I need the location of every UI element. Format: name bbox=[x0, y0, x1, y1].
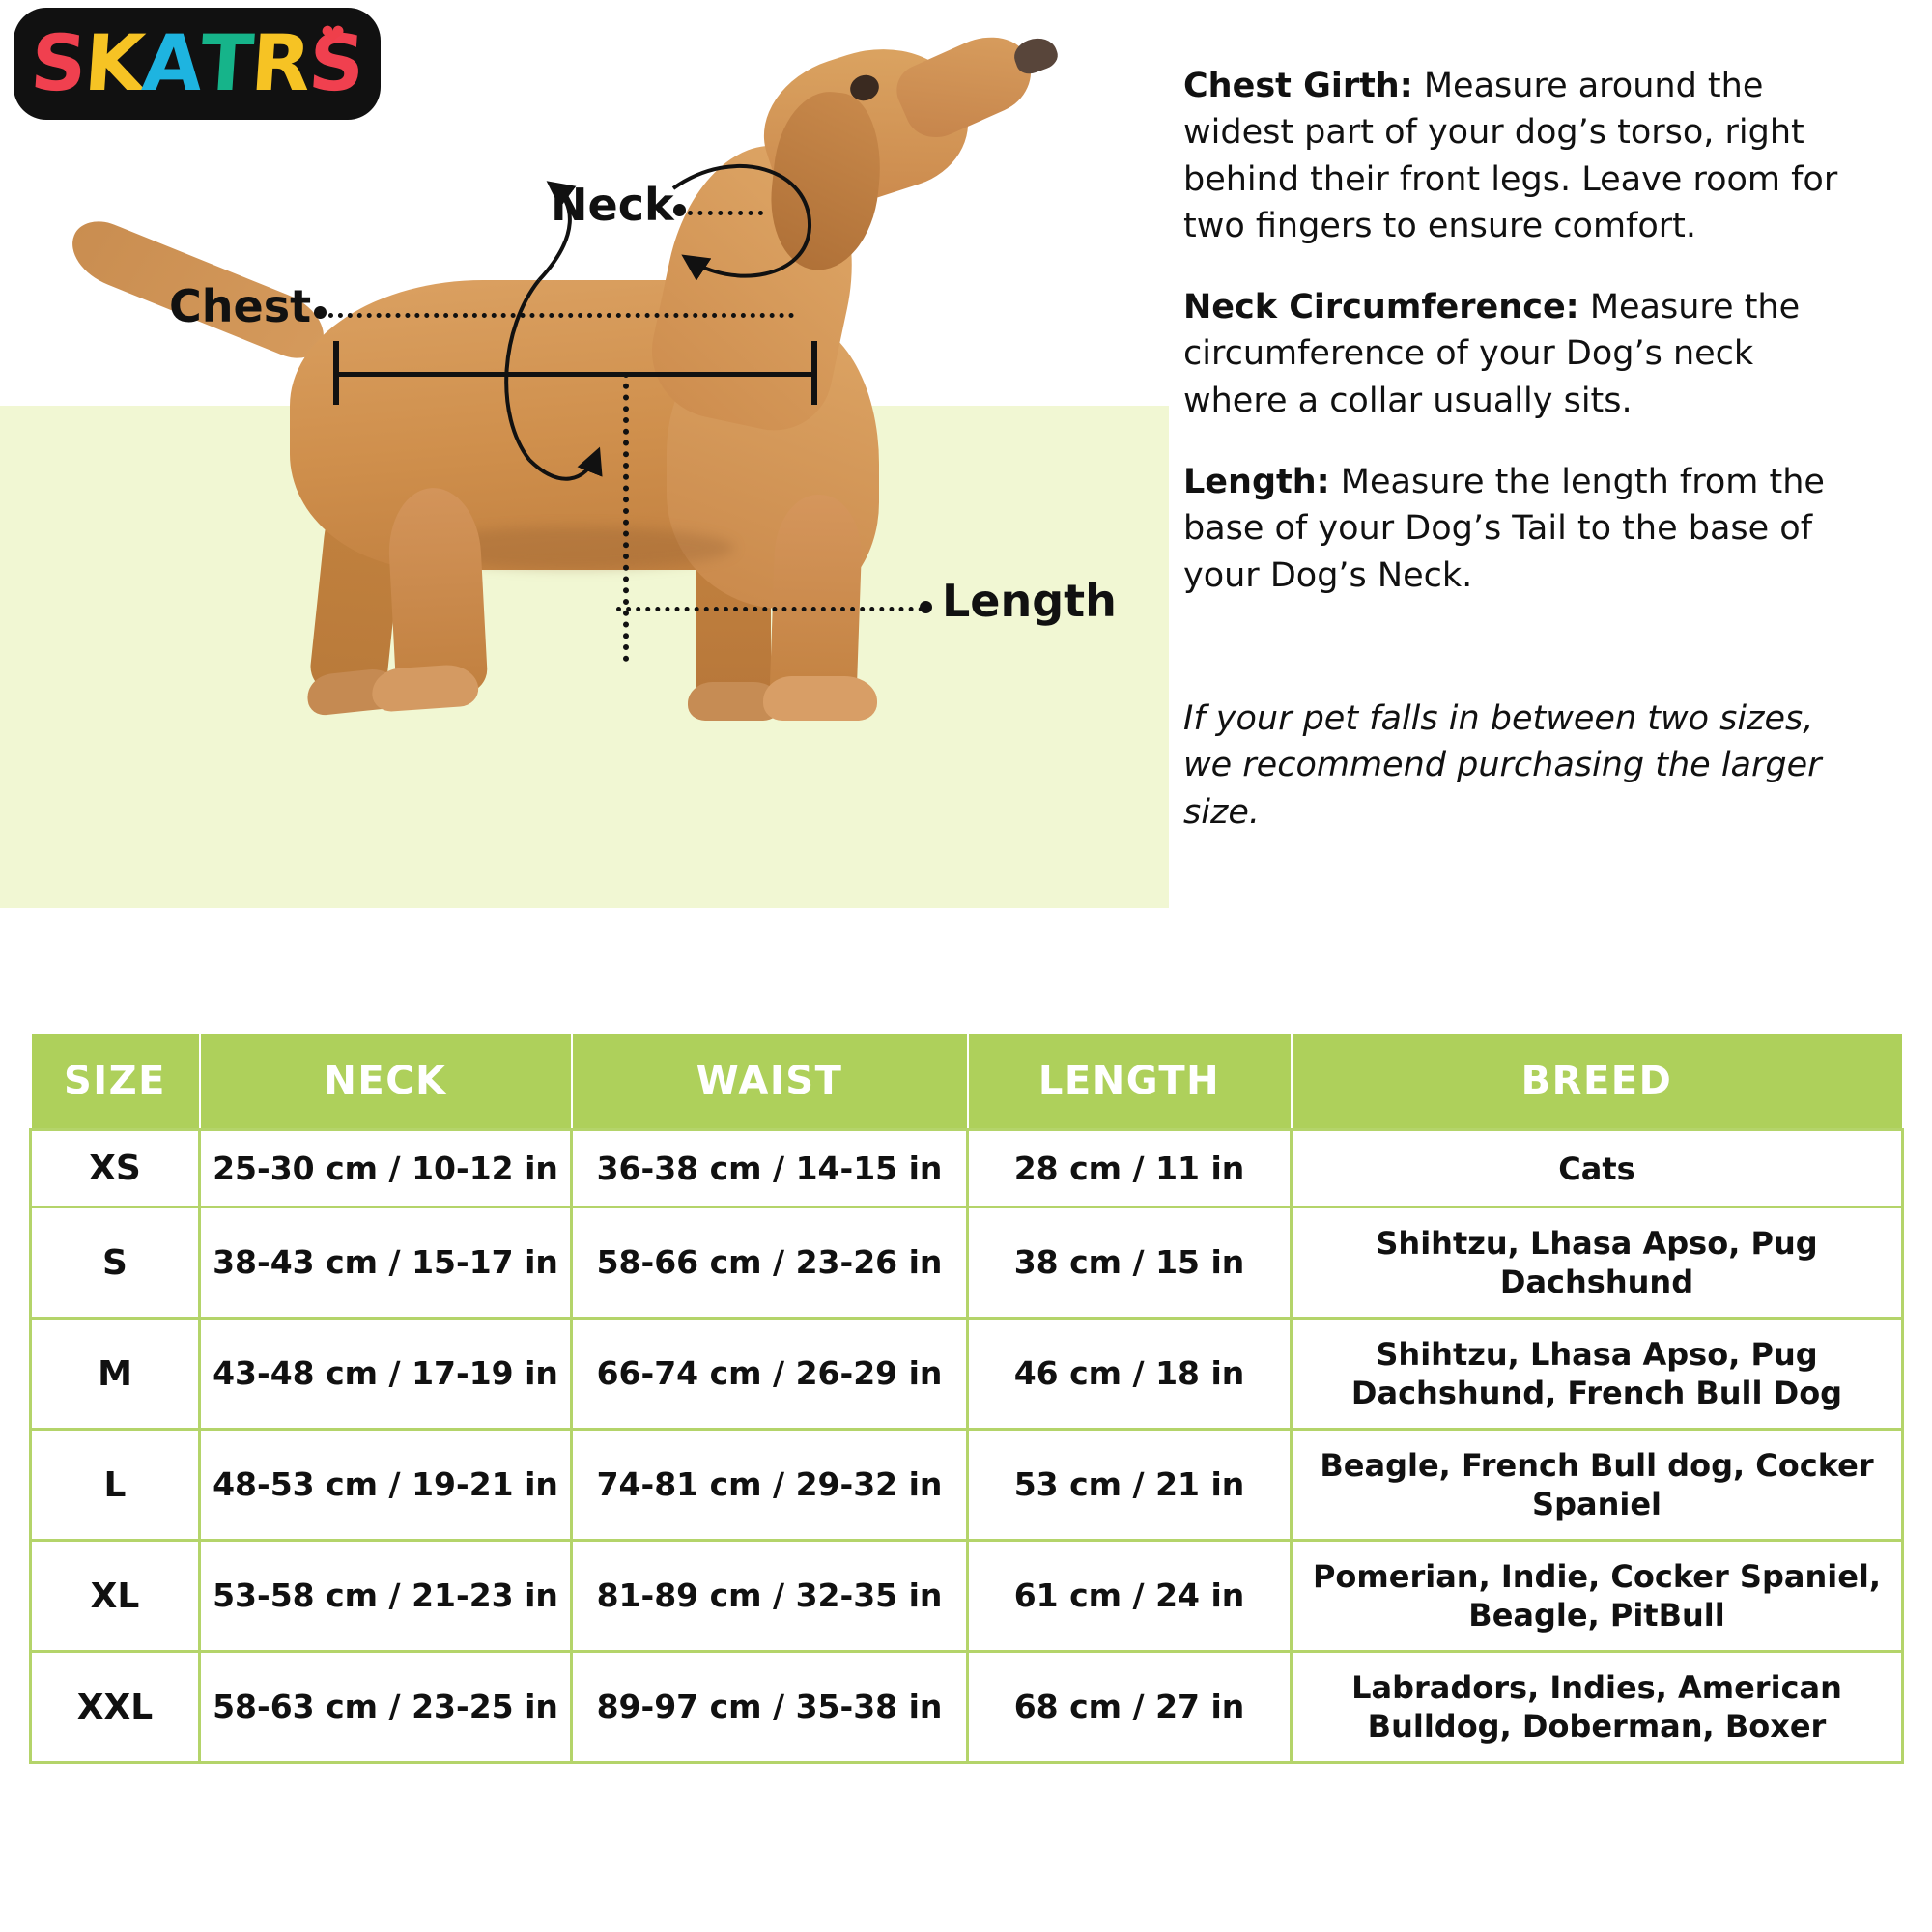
cell-neck: 43-48 cm / 17-19 in bbox=[200, 1319, 572, 1430]
cell-length: 53 cm / 21 in bbox=[968, 1430, 1292, 1541]
length-measure-bar bbox=[333, 372, 816, 377]
instructions-column: Chest Girth: Measure around the widest p… bbox=[1183, 29, 1860, 869]
measure-drop-line bbox=[623, 372, 629, 662]
table-header-row: SIZE NECK WAIST LENGTH BREED bbox=[31, 1033, 1903, 1130]
cell-length: 61 cm / 24 in bbox=[968, 1541, 1292, 1652]
cell-breed: Labradors, Indies, American Bulldog, Dob… bbox=[1292, 1652, 1903, 1763]
length-measure-cap-left bbox=[333, 341, 339, 405]
column-header-neck: NECK bbox=[200, 1033, 572, 1130]
cell-neck: 58-63 cm / 23-25 in bbox=[200, 1652, 572, 1763]
cell-waist: 58-66 cm / 23-26 in bbox=[572, 1207, 968, 1319]
cell-length: 38 cm / 15 in bbox=[968, 1207, 1292, 1319]
table-row: XS25-30 cm / 10-12 in36-38 cm / 14-15 in… bbox=[31, 1130, 1903, 1207]
chest-leader-dot bbox=[314, 306, 327, 319]
neck-label: Neck bbox=[551, 179, 674, 231]
neck-leader-line bbox=[688, 211, 763, 215]
chest-girth-heading: Chest Girth: bbox=[1183, 67, 1413, 105]
cell-waist: 74-81 cm / 29-32 in bbox=[572, 1430, 968, 1541]
length-measure-cap-right bbox=[811, 341, 817, 405]
cell-length: 46 cm / 18 in bbox=[968, 1319, 1292, 1430]
chest-label: Chest bbox=[169, 280, 311, 332]
cell-waist: 89-97 cm / 35-38 in bbox=[572, 1652, 968, 1763]
length-leader-dot bbox=[920, 601, 932, 613]
cell-length: 68 cm / 27 in bbox=[968, 1652, 1292, 1763]
cell-size: XXL bbox=[31, 1652, 200, 1763]
table-row: M43-48 cm / 17-19 in66-74 cm / 26-29 in4… bbox=[31, 1319, 1903, 1430]
table-row: XL53-58 cm / 21-23 in81-89 cm / 32-35 in… bbox=[31, 1541, 1903, 1652]
cell-size: XS bbox=[31, 1130, 200, 1207]
neck-circumference-paragraph: Neck Circumference: Measure the circumfe… bbox=[1183, 284, 1860, 424]
cell-size: L bbox=[31, 1430, 200, 1541]
measurement-diagram: Neck Chest Length bbox=[0, 0, 1169, 908]
length-paragraph: Length: Measure the length from the base… bbox=[1183, 459, 1860, 599]
chest-girth-loop-left bbox=[506, 280, 539, 460]
cell-breed: Beagle, French Bull dog, Cocker Spaniel bbox=[1292, 1430, 1903, 1541]
sizing-note: If your pet falls in between two sizes, … bbox=[1183, 696, 1860, 836]
girth-loop-arrows bbox=[0, 0, 1169, 908]
cell-breed: Shihtzu, Lhasa Apso, Pug Dachshund, Fren… bbox=[1292, 1319, 1903, 1430]
chest-girth-loop-bottom bbox=[529, 454, 597, 479]
cell-neck: 48-53 cm / 19-21 in bbox=[200, 1430, 572, 1541]
cell-neck: 53-58 cm / 21-23 in bbox=[200, 1541, 572, 1652]
column-header-waist: WAIST bbox=[572, 1033, 968, 1130]
cell-waist: 81-89 cm / 32-35 in bbox=[572, 1541, 968, 1652]
cell-size: M bbox=[31, 1319, 200, 1430]
length-leader-line bbox=[616, 607, 923, 611]
length-heading: Length: bbox=[1183, 463, 1330, 501]
cell-neck: 38-43 cm / 15-17 in bbox=[200, 1207, 572, 1319]
cell-size: S bbox=[31, 1207, 200, 1319]
chest-girth-paragraph: Chest Girth: Measure around the widest p… bbox=[1183, 63, 1860, 249]
neck-circumference-heading: Neck Circumference: bbox=[1183, 288, 1579, 327]
column-header-length: LENGTH bbox=[968, 1033, 1292, 1130]
size-chart-table: SIZE NECK WAIST LENGTH BREED XS25-30 cm … bbox=[29, 1032, 1904, 1764]
cell-size: XL bbox=[31, 1541, 200, 1652]
column-header-breed: BREED bbox=[1292, 1033, 1903, 1130]
table-row: L48-53 cm / 19-21 in74-81 cm / 29-32 in5… bbox=[31, 1430, 1903, 1541]
cell-breed: Cats bbox=[1292, 1130, 1903, 1207]
cell-length: 28 cm / 11 in bbox=[968, 1130, 1292, 1207]
table-row: S38-43 cm / 15-17 in58-66 cm / 23-26 in3… bbox=[31, 1207, 1903, 1319]
cell-neck: 25-30 cm / 10-12 in bbox=[200, 1130, 572, 1207]
cell-waist: 66-74 cm / 26-29 in bbox=[572, 1319, 968, 1430]
cell-breed: Pomerian, Indie, Cocker Spaniel, Beagle,… bbox=[1292, 1541, 1903, 1652]
table-row: XXL58-63 cm / 23-25 in89-97 cm / 35-38 i… bbox=[31, 1652, 1903, 1763]
length-label: Length bbox=[942, 575, 1117, 627]
cell-breed: Shihtzu, Lhasa Apso, Pug Dachshund bbox=[1292, 1207, 1903, 1319]
neck-girth-loop bbox=[673, 166, 810, 276]
cell-waist: 36-38 cm / 14-15 in bbox=[572, 1130, 968, 1207]
neck-leader-dot bbox=[673, 204, 686, 216]
table-body: XS25-30 cm / 10-12 in36-38 cm / 14-15 in… bbox=[31, 1130, 1903, 1763]
chest-leader-line bbox=[328, 313, 794, 318]
column-header-size: SIZE bbox=[31, 1033, 200, 1130]
